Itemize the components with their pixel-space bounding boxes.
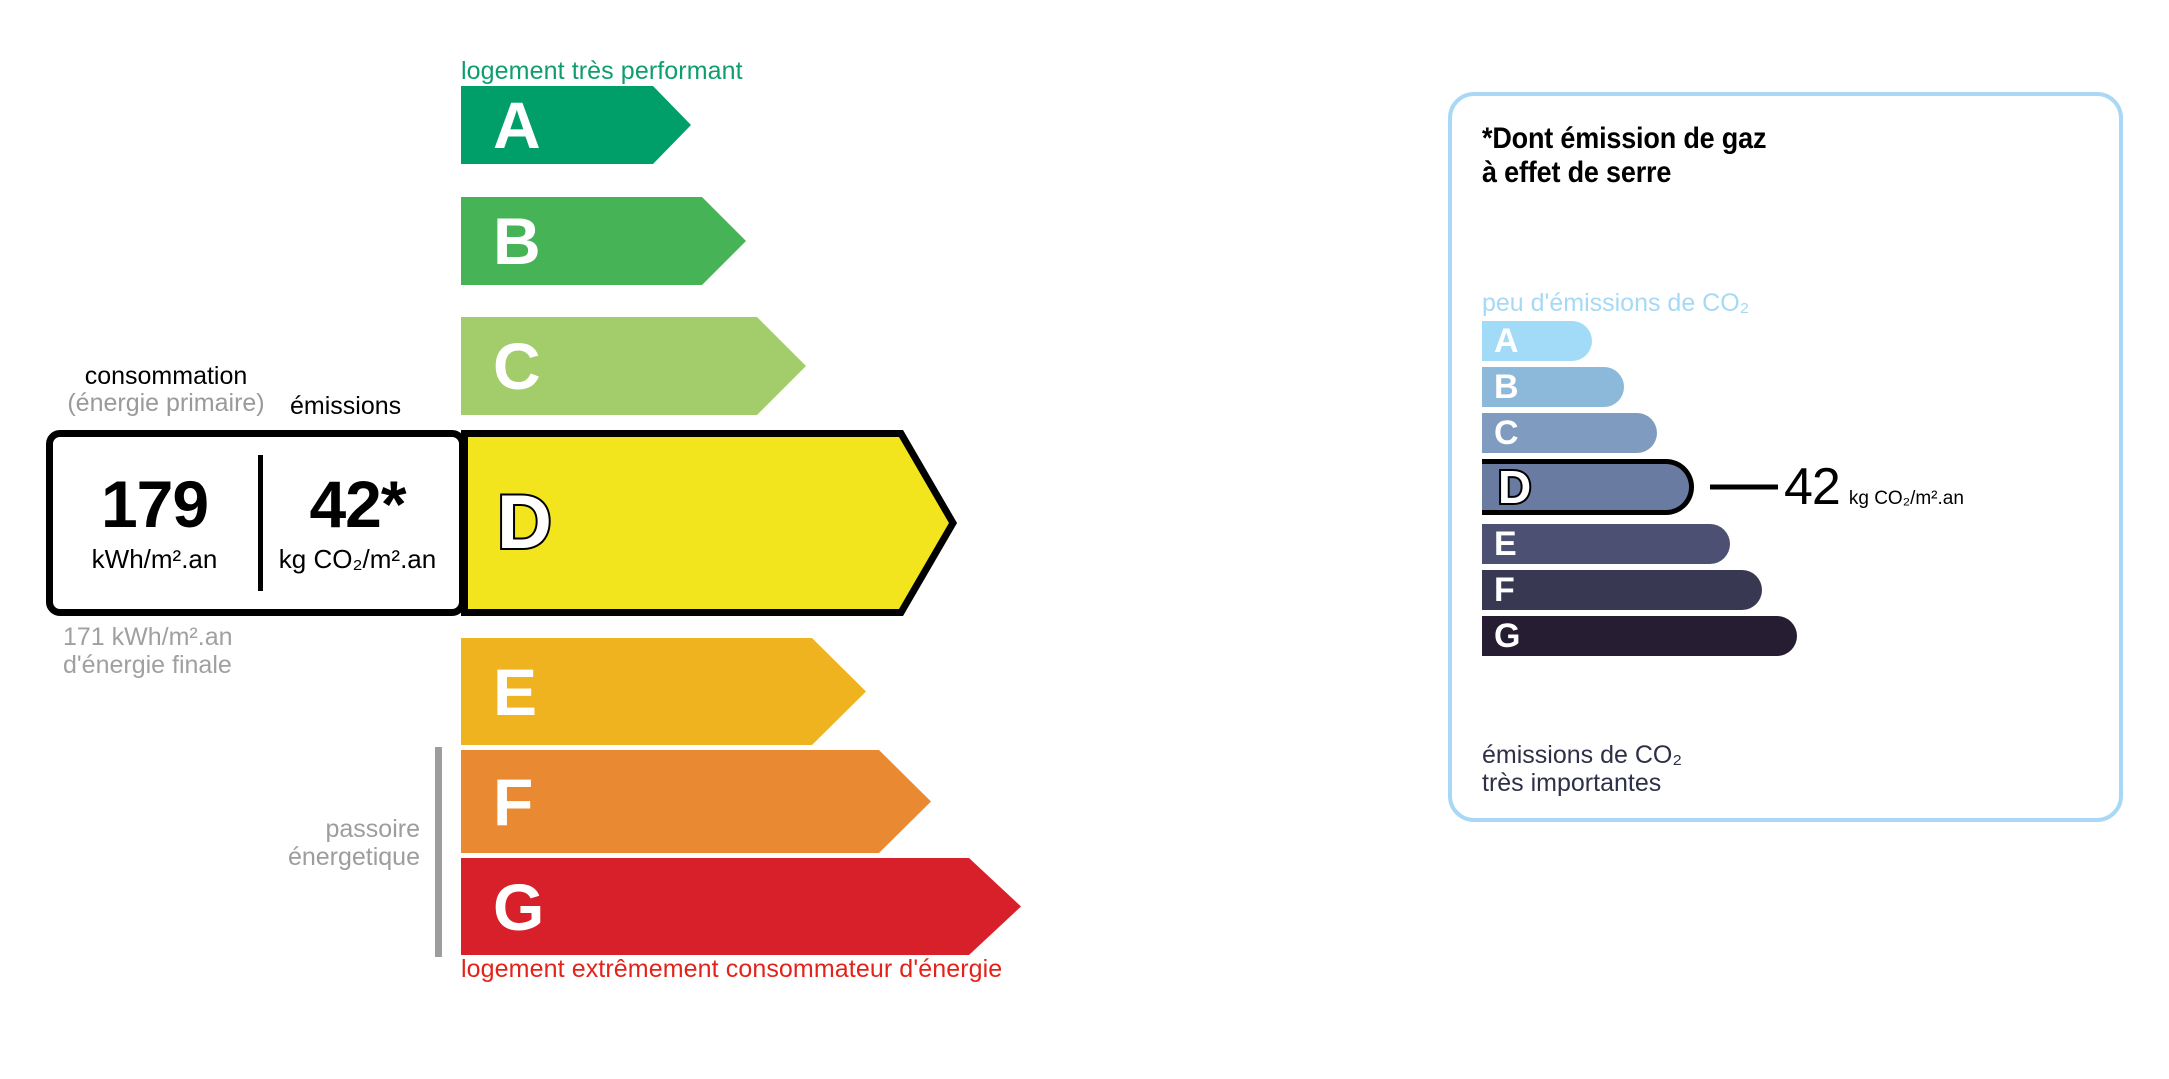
final-energy-note: 171 kWh/m².an d'énergie finale	[63, 623, 233, 679]
consumption-label-group: consommation (énergie primaire)	[46, 363, 286, 416]
energy-band-e[interactable]: E	[461, 638, 866, 745]
co2-bar-e[interactable]: E	[1482, 524, 1797, 564]
co2-bar-letter: C	[1494, 416, 1519, 450]
energy-band-g[interactable]: G	[461, 858, 1021, 955]
co2-bottom-line1: émissions de CO₂	[1482, 741, 1682, 769]
bottom-caption: logement extrêmement consommateur d'éner…	[461, 955, 1002, 984]
energy-band-letter: F	[493, 769, 533, 835]
energy-band-letter: B	[493, 208, 541, 274]
co2-bar-list: A B C D 42 kg CO₂/m².an E	[1482, 321, 1797, 662]
emissions-value: 42*	[309, 471, 405, 537]
passoire-line1: passoire	[200, 815, 420, 843]
passoire-marker-bar	[435, 747, 442, 957]
top-caption: logement très performant	[461, 57, 743, 86]
energy-band-letter: G	[493, 874, 544, 940]
co2-bar-b[interactable]: B	[1482, 367, 1797, 407]
co2-bar-letter: F	[1494, 573, 1515, 607]
emissions-unit: kg CO₂/m².an	[279, 544, 436, 575]
energy-band-letter: E	[493, 659, 537, 725]
energy-band-letter: A	[493, 92, 541, 158]
co2-panel: *Dont émission de gaz à effet de serre p…	[1448, 92, 2123, 822]
co2-bar-letter: A	[1494, 324, 1519, 358]
co2-bar-letter: E	[1494, 527, 1517, 561]
co2-bar-d[interactable]: D 42 kg CO₂/m².an	[1482, 459, 1797, 515]
co2-bar-a[interactable]: A	[1482, 321, 1797, 361]
co2-value: 42	[1784, 461, 1840, 513]
energy-band-d[interactable]: D	[461, 430, 957, 616]
co2-title-line2: à effet de serre	[1482, 156, 1766, 190]
consumption-sublabel: (énergie primaire)	[46, 390, 286, 417]
co2-bar-f[interactable]: F	[1482, 570, 1797, 610]
energy-band-a[interactable]: A	[461, 86, 691, 164]
co2-bar-c[interactable]: C	[1482, 413, 1797, 453]
co2-bottom-line2: très importantes	[1482, 769, 1682, 797]
co2-top-caption: peu d'émissions de CO₂	[1482, 289, 1749, 318]
final-energy-line2: d'énergie finale	[63, 651, 233, 679]
final-energy-line1: 171 kWh/m².an	[63, 623, 233, 651]
co2-value-group: 42 kg CO₂/m².an	[1784, 461, 1964, 513]
energy-band-letter: C	[493, 333, 541, 399]
passoire-line2: énergetique	[200, 843, 420, 871]
energy-band-letter: D	[497, 485, 552, 561]
energy-band-c[interactable]: C	[461, 317, 806, 415]
emissions-cell: 42* kg CO₂/m².an	[256, 437, 459, 609]
consumption-value: 179	[101, 471, 208, 537]
dpe-diagram: logement très performant A B C	[0, 0, 2169, 1079]
value-box-divider	[258, 455, 263, 591]
co2-bar-letter: B	[1494, 370, 1519, 404]
value-box: 179 kWh/m².an 42* kg CO₂/m².an	[46, 430, 466, 616]
co2-panel-title: *Dont émission de gaz à effet de serre	[1482, 122, 1766, 189]
co2-title-line1: *Dont émission de gaz	[1482, 122, 1766, 156]
emissions-label: émissions	[290, 393, 470, 420]
co2-leader-line	[1710, 485, 1778, 490]
consumption-unit: kWh/m².an	[92, 544, 218, 575]
co2-unit: kg CO₂/m².an	[1849, 488, 1964, 510]
passoire-label: passoire énergetique	[200, 815, 420, 871]
co2-bar-g[interactable]: G	[1482, 616, 1797, 656]
consumption-label: consommation	[85, 362, 248, 390]
consumption-cell: 179 kWh/m².an	[53, 437, 256, 609]
co2-bar-letter: G	[1494, 619, 1520, 653]
energy-band-b[interactable]: B	[461, 197, 746, 285]
co2-bottom-caption: émissions de CO₂ très importantes	[1482, 741, 1682, 797]
co2-bar-letter: D	[1498, 464, 1531, 510]
energy-scale: logement très performant A B C	[0, 0, 1400, 1079]
energy-band-f[interactable]: F	[461, 750, 931, 853]
